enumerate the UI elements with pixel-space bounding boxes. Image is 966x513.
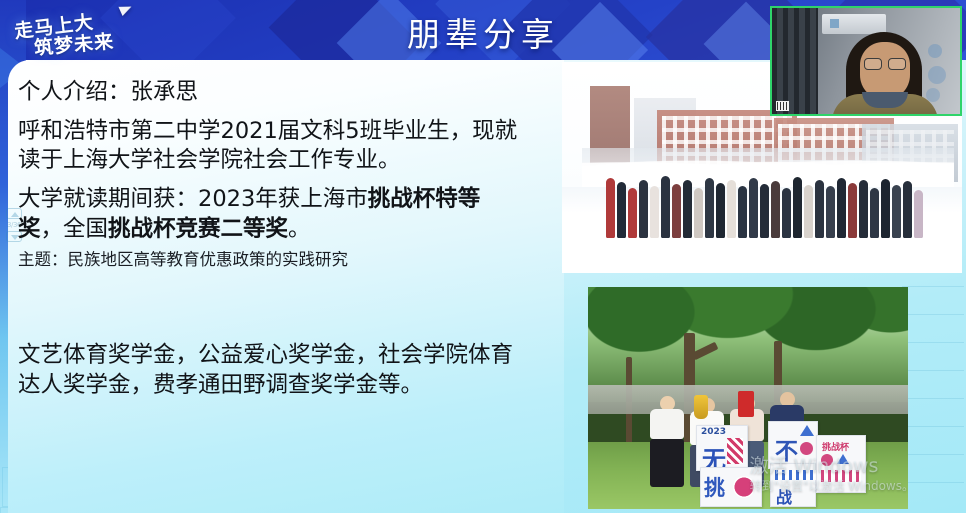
awards-bold-2: 挑战杯竞赛二等奖: [108, 216, 288, 242]
event-logo: 走马上大 筑梦未来: [8, 4, 140, 60]
curtain: [772, 8, 818, 114]
trophy-icon: [694, 395, 708, 419]
glasses-right-lens: [888, 58, 906, 70]
slide-text-content: 个人介绍：张承思 呼和浩特市第二中学2021届文科5班毕业生，现就读于上海大学社…: [18, 78, 518, 271]
photo-box-5: 挑战杯: [816, 435, 866, 493]
certificate-icon: [738, 391, 754, 417]
awards-middle: ，全国: [41, 216, 109, 242]
person-1: [650, 396, 684, 487]
wall-logo-1: [928, 44, 942, 58]
awards-suffix: 。: [288, 216, 311, 242]
slide-stage: 13: 走马上大 筑梦未来 朋辈分享 3/36 个人介绍：张承思 呼和浩特市第二…: [0, 0, 966, 513]
crowd-silhouettes: [604, 166, 924, 238]
wall-logo-2: [928, 66, 946, 84]
scholarships-paragraph: 文艺体育奖学金，公益爱心奖学金，社会学院体育达人奖学金，费孝通田野调查奖学金等。: [18, 341, 518, 400]
background-ghost-panel-right: 13:: [902, 268, 964, 510]
paper-plane-icon: [118, 2, 133, 16]
bio-paragraph: 呼和浩特市第二中学2021届文科5班毕业生，现就读于上海大学社会学院社会工作专业…: [18, 117, 518, 176]
glasses-left-lens: [864, 58, 882, 70]
awards-paragraph: 大学就读期间获：2023年获上海市挑战杯特等奖，全国挑战杯竞赛二等奖。: [18, 185, 518, 244]
awards-prefix: 大学就读期间获：2023年获上海市: [18, 186, 368, 212]
photo-box-4: 战: [770, 463, 816, 507]
photo-box-2: 挑: [700, 467, 762, 507]
logo-line-2: 筑梦未来: [33, 27, 115, 61]
intro-line: 个人介绍：张承思: [18, 78, 518, 108]
signal-bars-icon: [776, 101, 789, 111]
presenter-webcam[interactable]: [770, 6, 962, 116]
topic-line: 主题：民族地区高等教育优惠政策的实践研究: [18, 249, 518, 271]
photo-box-3: 不: [768, 421, 818, 469]
air-conditioner: [822, 14, 886, 34]
photo-box-1: 2023 无: [696, 425, 748, 471]
award-team-photo: 2023 无 挑 不 战 挑战杯: [588, 287, 908, 509]
